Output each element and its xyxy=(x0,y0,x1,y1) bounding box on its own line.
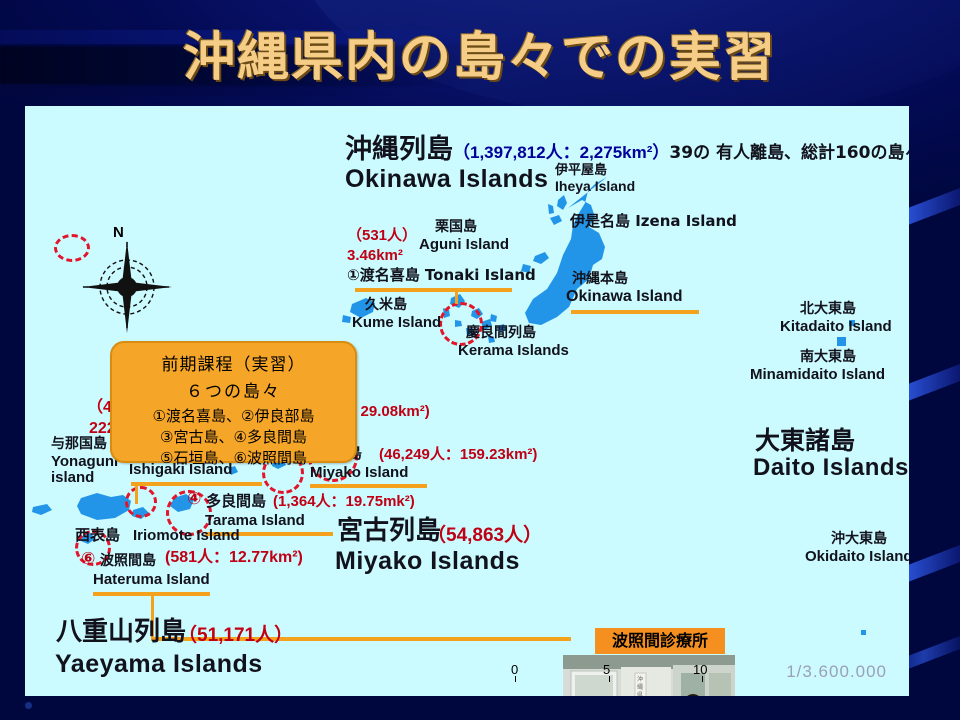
label-miyako-stats: (46,249人：159.23km²) xyxy=(379,447,537,463)
label-kerama-en: Kerama Islands xyxy=(458,343,569,359)
label-tarama-jp: 多良間島 xyxy=(206,494,266,510)
leader-tonaki xyxy=(455,288,458,304)
underline-tonaki xyxy=(355,288,512,292)
svg-text:県: 県 xyxy=(637,692,643,696)
leader-ishigaki xyxy=(135,482,138,504)
label-hateruma-jp: 波照間島 xyxy=(100,554,156,569)
label-kume-jp: 久米島 xyxy=(365,298,407,313)
okinawa-region-jp: 沖縄列島 xyxy=(345,134,453,165)
daito-region-jp: 大東諸島 xyxy=(755,428,855,454)
label-okidaito-en: Okidaito Island xyxy=(805,549,909,565)
label-iheya-jp: 伊平屋島 xyxy=(555,164,607,178)
yaeyama-jp: 八重山列島 xyxy=(56,619,186,646)
callout-line-3: ①渡名喜島、②伊良部島 xyxy=(112,402,355,426)
scale-tick-end xyxy=(702,676,703,682)
scale-tick-start xyxy=(515,676,516,682)
highlight-circle-ishigaki xyxy=(125,486,157,518)
underline-miyako xyxy=(310,484,427,488)
label-aguni-en: Aguni Island xyxy=(419,237,509,253)
photo-caption-top: 波照間診療所 xyxy=(595,628,725,654)
label-hateruma-number: ⑥ xyxy=(81,550,95,568)
scale-tick-mid xyxy=(609,676,610,682)
label-tonaki: ①渡名喜島 Tonaki Island xyxy=(347,268,536,284)
okinawa-region-stats: （1,397,812人：2,275km²） xyxy=(453,143,669,162)
label-okidaito-jp: 沖大東島 xyxy=(831,532,887,547)
svg-text:沖: 沖 xyxy=(637,675,643,683)
highlight-circle-legend xyxy=(54,234,90,262)
miyako-islands-en: Miyako Islands xyxy=(335,548,520,574)
callout-line-5: ⑤石垣島、⑥波照間島 xyxy=(112,447,355,468)
label-iriomote-en: Iriomote Island xyxy=(133,528,240,544)
label-tarama-number: ④ xyxy=(187,490,201,508)
label-izena: 伊是名島 Izena Island xyxy=(570,214,737,230)
label-iriomote-jp: 西表島 xyxy=(75,528,120,544)
yaeyama-pop: （51,171人） xyxy=(178,626,293,646)
clinic-photo: 沖縄県 立病院 xyxy=(563,655,735,696)
label-kitadaito-jp: 北大東島 xyxy=(800,302,856,317)
callout-line-2: ６つの島々 xyxy=(112,375,355,402)
label-hateruma-stats: (581人：12.77km²) xyxy=(165,550,303,567)
label-aguni-jp: 栗国島 xyxy=(435,220,477,235)
map-scale-text: 1/3.600.000 xyxy=(786,662,887,682)
scale-label-start: 0 xyxy=(511,662,518,677)
corner-dot xyxy=(25,702,32,709)
okinawa-region-heading: 沖縄列島（1,397,812人：2,275km²）39の 有人離島、総計160の… xyxy=(345,136,909,164)
underline-okinawa xyxy=(571,310,699,314)
label-minamidaito-jp: 南大東島 xyxy=(800,350,856,365)
label-tarama-stats: (1,364人：19.75mk²) xyxy=(273,494,415,510)
okinawa-region-note: 39の 有人離島、総計160の島々 xyxy=(669,143,909,163)
miyako-islands-jp: 宮古列島 xyxy=(337,518,441,545)
label-okinawa-jp: 沖縄本島 xyxy=(572,272,628,287)
label-minamidaito-en: Minamidaito Island xyxy=(750,367,885,383)
slide-title: 沖縄県内の島々での実習 xyxy=(0,15,960,90)
label-tonaki-pop: （531人） xyxy=(347,228,417,244)
label-okinawa-en: Okinawa Island xyxy=(566,289,682,306)
callout-line-1: 前期課程（実習） xyxy=(112,343,355,375)
label-tonaki-area: 3.46km² xyxy=(347,248,403,264)
map-panel: N xyxy=(25,106,909,696)
scale-label-end: 10 xyxy=(693,662,707,677)
label-kerama-jp: 慶良間列島 xyxy=(466,326,536,341)
okinawa-region-en: Okinawa Islands xyxy=(345,166,548,192)
underline-ishigaki xyxy=(131,482,262,486)
label-yonaguni-en1: Yonaguni xyxy=(51,454,118,470)
label-yonaguni-jp: 与那国島 xyxy=(51,437,107,452)
miyako-islands-pop: （54,863人） xyxy=(427,526,542,546)
yaeyama-en: Yaeyama Islands xyxy=(55,651,263,677)
daito-region-en: Daito Islands xyxy=(753,456,909,481)
label-hateruma-en: Hateruma Island xyxy=(93,572,210,588)
callout-line-4: ③宮古島、④多良間島 xyxy=(112,426,355,447)
svg-text:縄: 縄 xyxy=(637,683,643,691)
label-iheya-en: Iheya Island xyxy=(555,179,635,194)
label-kume-en: Kume Island xyxy=(352,315,441,331)
label-yonaguni-en2: island xyxy=(51,470,94,486)
scale-label-mid: 5 xyxy=(603,662,610,677)
label-kitadaito-en: Kitadaito Island xyxy=(780,319,892,335)
curriculum-callout-box: 前期課程（実習） ６つの島々 ①渡名喜島、②伊良部島 ③宮古島、④多良間島 ⑤石… xyxy=(110,341,357,463)
